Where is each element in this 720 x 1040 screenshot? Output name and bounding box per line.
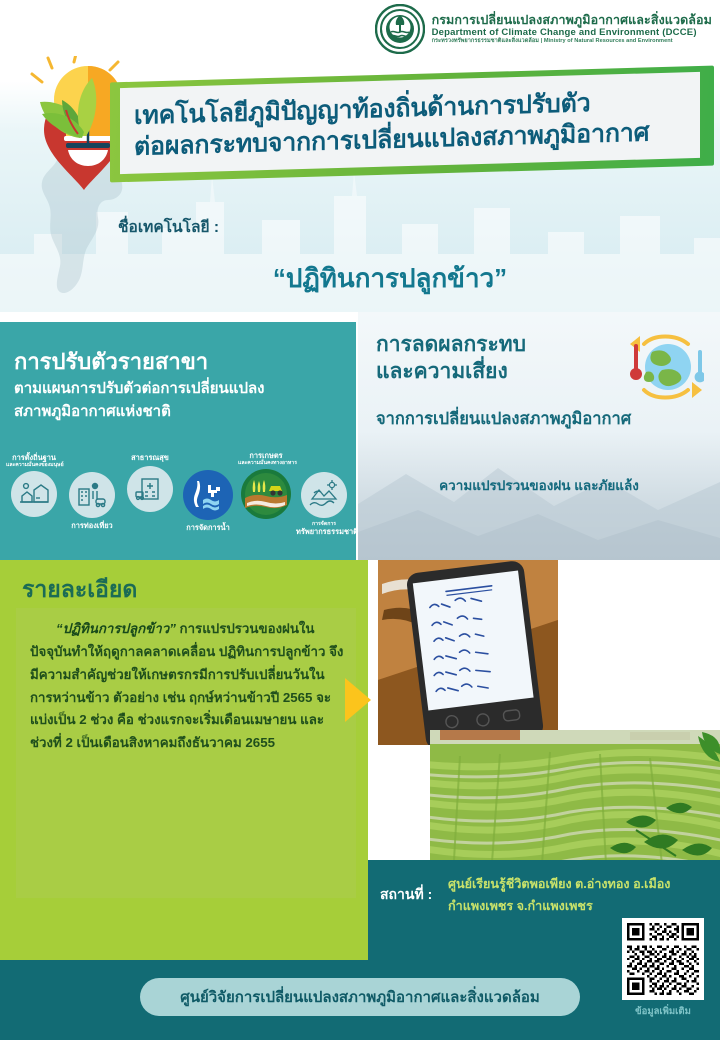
poster-root: กรมการเปลี่ยนแปลงสภาพภูมิอากาศและสิ่งแวด… <box>0 0 720 1040</box>
sector-agriculture[interactable]: การเกษตร และความมั่นคงทางอาหาร <box>238 452 294 519</box>
dcce-logo: กรมการเปลี่ยนแปลงสภาพภูมิอากาศและสิ่งแวด… <box>375 4 712 54</box>
sector-tourism[interactable]: การท่องเที่ยว <box>64 472 120 531</box>
mitigation-heading-line-2: และความเสี่ยง <box>376 359 526 386</box>
qr-code-caption: ข้อมูลเพิ่มเติม <box>612 1004 714 1019</box>
title-text-block: เทคโนโลยีภูมิปัญญาท้องถิ่นด้านการปรับตัว… <box>134 76 700 172</box>
details-body: “ปฏิทินการปลูกข้าว” การแปรปรวนของฝนในปัจ… <box>16 608 356 898</box>
mitigation-risk-text: ความแปรปรวนของฝน และภัยแล้ง <box>358 474 720 496</box>
details-title: รายละเอียด <box>22 572 137 608</box>
location-line-2: กำแพงเพชร จ.กำแพงเพชร <box>448 896 698 918</box>
title-ribbon: เทคโนโลยีภูมิปัญญาท้องถิ่นด้านการปรับตัว… <box>104 74 714 174</box>
location-label: สถานที่ : <box>380 884 432 906</box>
details-paragraph: “ปฏิทินการปลูกข้าว” การแปรปรวนของฝนในปัจ… <box>30 618 344 755</box>
qr-code-icon <box>627 923 699 995</box>
sector-health-label: สาธารณสุข <box>122 454 178 463</box>
water-management-icon <box>183 470 233 520</box>
tourism-icon <box>69 472 115 518</box>
footer-bar: ศูนย์วิจัยการเปลี่ยนแปลงสภาพภูมิอากาศและ… <box>0 960 720 1040</box>
sector-natural-resources-label: การจัดการ ทรัพยากรธรรมชาติ <box>296 522 352 536</box>
technology-name: “ปฏิทินการปลูกข้าว” <box>0 258 720 299</box>
natural-resources-icon <box>301 472 347 518</box>
adaptation-subheading-line-1: ตามแผนการปรับตัวต่อการเปลี่ยนแปลง <box>14 378 350 401</box>
sector-icons-row: การตั้งถิ่นฐาน และความมั่นคงของมนุษย์ <box>0 454 356 560</box>
adaptation-panel: การปรับตัวรายสาขา ตามแผนการปรับตัวต่อการ… <box>0 322 356 560</box>
mitigation-heading: การลดผลกระทบ และความเสี่ยง <box>376 332 526 386</box>
panels-section: การปรับตัวรายสาขา ตามแผนการปรับตัวต่อการ… <box>0 312 720 560</box>
logo-ministry: กระทรวงทรัพยากรธรรมชาติและสิ่งแวดล้อม | … <box>432 38 712 44</box>
sector-agriculture-label: การเกษตร และความมั่นคงทางอาหาร <box>238 452 294 466</box>
adaptation-subheading-line-2: สภาพภูมิอากาศแห่งชาติ <box>14 401 350 424</box>
sector-health[interactable]: สาธารณสุข <box>122 454 178 512</box>
sector-settlement-label: การตั้งถิ่นฐาน และความมั่นคงของมนุษย์ <box>6 454 62 468</box>
sector-water-management[interactable]: การจัดการน้ำ <box>180 470 236 533</box>
location-value: ศูนย์เรียนรู้ชีวิตพอเพียง ต.อ่างทอง อ.เม… <box>448 874 698 917</box>
adaptation-subheading: ตามแผนการปรับตัวต่อการเปลี่ยนแปลง สภาพภู… <box>14 378 350 423</box>
mountain-decoration <box>358 440 720 560</box>
location-line-1: ศูนย์เรียนรู้ชีวิตพอเพียง ต.อ่างทอง อ.เม… <box>448 874 698 896</box>
details-emphasis: “ปฏิทินการปลูกข้าว” <box>56 621 176 636</box>
phone-rice-calendar-photo <box>378 560 558 745</box>
mitigation-heading-line-1: การลดผลกระทบ <box>376 332 526 359</box>
mitigation-heading-line-3: จากการเปลี่ยนแปลงสภาพภูมิอากาศ <box>376 406 631 432</box>
sector-settlement[interactable]: การตั้งถิ่นฐาน และความมั่นคงของมนุษย์ <box>6 454 62 517</box>
logo-org-th: กรมการเปลี่ยนแปลงสภาพภูมิอากาศและสิ่งแวด… <box>432 14 712 28</box>
details-section: รายละเอียด “ปฏิทินการปลูกข้าว” การแปรปรว… <box>0 560 368 960</box>
rice-paddy-field-photo <box>430 730 720 870</box>
health-icon <box>127 466 173 512</box>
details-paragraph-text: การแปรปรวนของฝนในปัจจุบันทำให้ฤดูกาลคลาด… <box>30 621 343 750</box>
footer-organization-label: ศูนย์วิจัยการเปลี่ยนแปลงสภาพภูมิอากาศและ… <box>180 985 540 1009</box>
adaptation-heading: การปรับตัวรายสาขา <box>14 344 208 379</box>
logo-org-en: Department of Climate Change and Environ… <box>432 28 712 38</box>
footer-organization-pill: ศูนย์วิจัยการเปลี่ยนแปลงสภาพภูมิอากาศและ… <box>140 978 580 1016</box>
technology-label: ชื่อเทคโนโลยี : <box>118 214 219 239</box>
yellow-arrow-icon <box>345 678 371 722</box>
sector-tourism-label: การท่องเที่ยว <box>64 522 120 531</box>
sector-natural-resources[interactable]: การจัดการ ทรัพยากรธรรมชาติ <box>296 472 352 536</box>
agriculture-icon <box>241 469 291 519</box>
globe-thermometer-icon <box>618 330 704 408</box>
qr-code[interactable] <box>622 918 704 1000</box>
mitigation-panel: การลดผลกระทบ และความเสี่ยง จากการเปลี่ยน… <box>358 312 720 560</box>
settlement-icon <box>11 471 57 517</box>
sector-water-management-label: การจัดการน้ำ <box>180 524 236 533</box>
header-section: กรมการเปลี่ยนแปลงสภาพภูมิอากาศและสิ่งแวด… <box>0 0 720 312</box>
dcce-emblem-icon <box>375 4 425 54</box>
